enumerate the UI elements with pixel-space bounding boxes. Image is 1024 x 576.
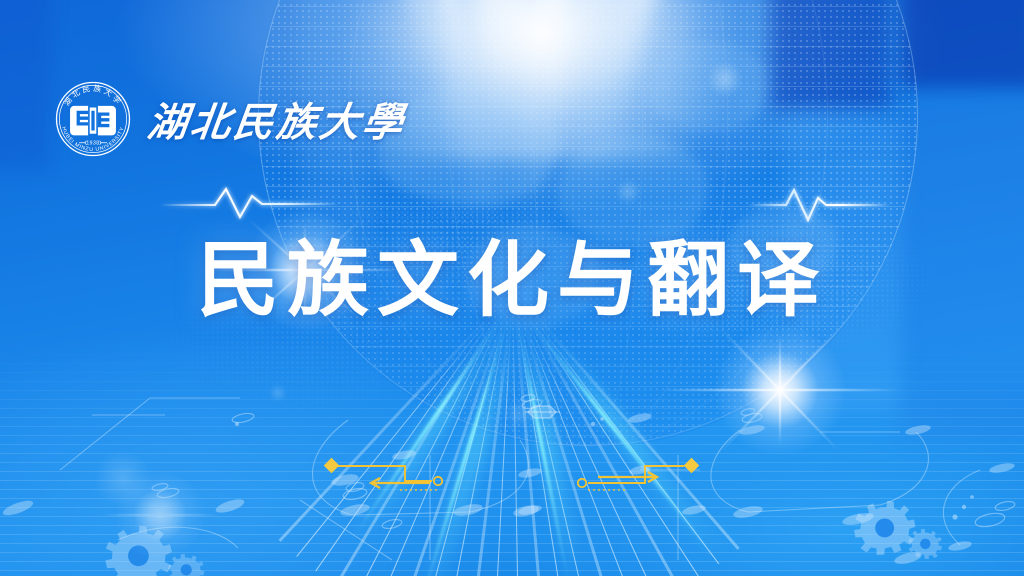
floor-circuit-network <box>60 398 980 560</box>
university-wordmark: 湖北民族大學 <box>144 90 409 148</box>
ekg-pulse-right <box>748 190 890 220</box>
seal-year: 1938 <box>86 140 99 146</box>
university-seal-emblem: 湖北民族大学 HUBEI MINZU UNIVERSITY 1938 <box>52 78 134 160</box>
gear-icon-bottom-left-small <box>166 551 207 576</box>
slide-title: 民族文化与翻译 <box>0 240 1024 322</box>
seal-center-glyph <box>70 103 116 139</box>
ekg-pulse-left <box>160 189 338 217</box>
university-logo: 湖北民族大学 HUBEI MINZU UNIVERSITY 1938 湖北民族大… <box>52 78 406 160</box>
gear-icon-bottom-left <box>99 520 178 576</box>
presentation-title-slide: 湖北民族大学 HUBEI MINZU UNIVERSITY 1938 湖北民族大… <box>0 0 1024 576</box>
tech-dot-marks <box>235 417 974 519</box>
